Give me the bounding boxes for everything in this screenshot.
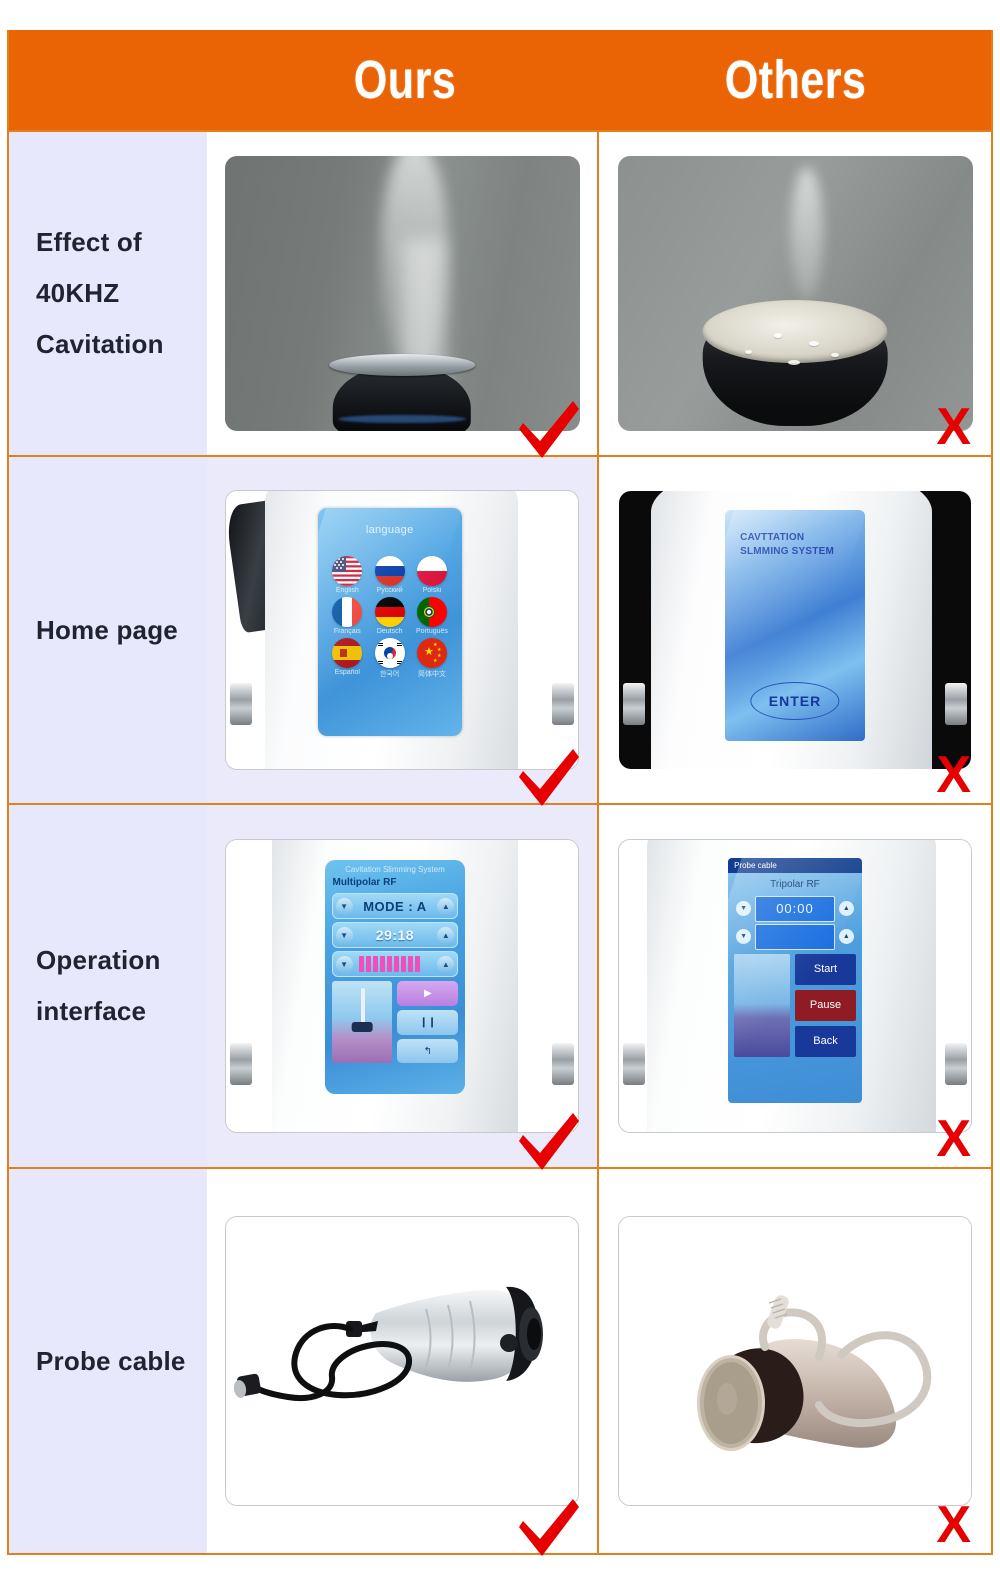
- operation-lower-panel: Start Pause Back: [734, 954, 856, 1057]
- row-label-text: Probe cable: [36, 1336, 186, 1387]
- header-cell-ours: Ours: [209, 30, 601, 130]
- comparison-table: Ours Others Effect of 40KHZ Cavitation: [7, 30, 993, 1555]
- cell-others-probe-cable: X: [599, 1169, 991, 1553]
- probe-head-illustration: [352, 1022, 373, 1032]
- language-option-polish[interactable]: Polski: [411, 556, 453, 594]
- connector-port-left: [230, 1043, 252, 1085]
- language-option-german[interactable]: Deutsch: [368, 597, 410, 635]
- flag-ru-icon: [375, 556, 405, 586]
- home-screen[interactable]: CAVTTATION SLMMING SYSTEM ENTER: [725, 510, 866, 741]
- intensity-bar: [415, 956, 420, 972]
- photo-others-probe: [618, 1216, 972, 1506]
- device-front-others-operation: Probe cable Tripolar RF ▼ 00:00 ▲ ▼ ▲: [619, 840, 971, 1132]
- verdict-cross-icon: X: [936, 401, 971, 453]
- verdict-cross-icon: X: [936, 1499, 971, 1551]
- header-label-spacer: [9, 30, 209, 130]
- cell-others-home-page: CAVTTATION SLMMING SYSTEM ENTER X: [599, 457, 991, 803]
- timer-stepper[interactable]: ▼ 29:18 ▲: [332, 922, 459, 948]
- intensity-bar: [373, 956, 378, 972]
- connector-port-right: [945, 1043, 967, 1085]
- intensity-bar: [366, 956, 371, 972]
- intensity-bar: [408, 956, 413, 972]
- verdict-cross-icon: X: [936, 749, 971, 801]
- language-option-korean[interactable]: 한국어: [368, 638, 410, 679]
- row-label-line: Effect of: [36, 217, 164, 268]
- language-screen-title: language: [318, 524, 462, 536]
- row-label-cell-cavitation: Effect of 40KHZ Cavitation: [9, 132, 207, 455]
- language-option-russian[interactable]: Русский: [368, 556, 410, 594]
- language-label: 한국어: [380, 669, 399, 679]
- intensity-stepper[interactable]: ▼ ▲: [332, 951, 459, 977]
- flag-es-icon: [332, 638, 362, 668]
- intensity-bar: [359, 956, 364, 972]
- connector-port-left: [230, 683, 252, 725]
- rf-mode-title: Tripolar RF: [728, 873, 862, 893]
- chevron-up-icon[interactable]: ▲: [839, 929, 854, 944]
- photo-others-operation: Probe cable Tripolar RF ▼ 00:00 ▲ ▼ ▲: [618, 839, 972, 1133]
- device-front-ours-operation: Cavitation Slimming System Multipolar RF…: [226, 840, 578, 1132]
- header-cell-others: Others: [601, 30, 991, 130]
- treatment-illustration: [332, 981, 393, 1063]
- row-label-line: Operation: [36, 935, 161, 986]
- flag-fr-icon: [332, 597, 362, 627]
- play-button[interactable]: ▶: [397, 981, 458, 1006]
- language-screen[interactable]: language English: [318, 508, 462, 736]
- verdict-check-icon: [513, 399, 583, 461]
- table-row: Home page language: [9, 455, 991, 803]
- flag-pl-icon: [417, 556, 447, 586]
- operation-lower-panel: ▶ ❙❙ ↰: [332, 981, 459, 1063]
- flag-kr-icon: [375, 638, 405, 668]
- probe-disc-dark: [703, 305, 888, 426]
- language-label: Polski: [423, 587, 442, 594]
- language-label: Français: [334, 628, 361, 635]
- intensity-bar: [401, 956, 406, 972]
- operation-screen[interactable]: Probe cable Tripolar RF ▼ 00:00 ▲ ▼ ▲: [728, 858, 862, 1103]
- language-option-english[interactable]: English: [326, 556, 368, 594]
- row-label-line: Probe cable: [36, 1336, 186, 1387]
- intensity-bar: [394, 956, 399, 972]
- photo-ours-home-page: language English: [225, 490, 579, 770]
- level-stepper[interactable]: ▼ ▲: [736, 925, 854, 949]
- treatment-illustration: [734, 954, 790, 1057]
- intensity-bar: [387, 956, 392, 972]
- cell-ours-cavitation: [207, 132, 599, 455]
- header-ours-label: Ours: [354, 49, 456, 111]
- row-label-cell-home-page: Home page: [9, 457, 207, 803]
- vapor-wisp: [791, 167, 823, 299]
- probe-others-illustration: [619, 1217, 971, 1505]
- language-option-spanish[interactable]: Español: [326, 638, 368, 679]
- row-label-cell-probe-cable: Probe cable: [9, 1169, 207, 1553]
- language-label: Deutsch: [377, 628, 403, 635]
- connector-port-left: [623, 1043, 645, 1085]
- operation-screen-header: Cavitation Slimming System: [328, 863, 463, 874]
- connector-port-right: [945, 683, 967, 725]
- photo-others-home-page: CAVTTATION SLMMING SYSTEM ENTER: [619, 491, 971, 769]
- water-droplet: [809, 341, 819, 346]
- pause-button[interactable]: ❙❙: [397, 1010, 458, 1035]
- intensity-bars: [353, 956, 438, 972]
- chevron-up-icon[interactable]: ▲: [437, 927, 454, 944]
- table-header-row: Ours Others: [9, 30, 991, 130]
- pause-button[interactable]: Pause: [795, 990, 856, 1021]
- probe-chrome-ring: [329, 354, 475, 376]
- language-option-chinese[interactable]: ★ ★ ★ ★ ★ 简体中文: [411, 638, 453, 679]
- language-label: Español: [335, 669, 360, 676]
- row-label-line: 40KHZ: [36, 268, 164, 319]
- language-option-portuguese[interactable]: Português: [411, 597, 453, 635]
- verdict-check-icon: [513, 1111, 583, 1173]
- language-label: Português: [416, 628, 448, 635]
- photo-ours-probe: [225, 1216, 579, 1506]
- mode-value: MODE : A: [353, 899, 438, 914]
- start-button[interactable]: Start: [795, 954, 856, 985]
- operation-controls: Start Pause Back: [795, 954, 856, 1057]
- chevron-up-icon[interactable]: ▲: [437, 898, 454, 915]
- operation-screen[interactable]: Cavitation Slimming System Multipolar RF…: [325, 860, 466, 1094]
- table-row: Probe cable: [9, 1167, 991, 1553]
- home-screen-title: CAVTTATION SLMMING SYSTEM: [740, 531, 853, 558]
- connector-port-right: [552, 683, 574, 725]
- verdict-check-icon: [513, 1497, 583, 1559]
- cell-ours-probe-cable: [207, 1169, 599, 1553]
- row-label-cell-operation-interface: Operation interface: [9, 805, 207, 1167]
- chevron-down-icon[interactable]: ▼: [336, 956, 353, 973]
- row-label-text: Effect of 40KHZ Cavitation: [36, 217, 164, 369]
- operation-screen-header: Probe cable: [728, 858, 862, 873]
- connector-port-right: [552, 1043, 574, 1085]
- water-droplet: [831, 353, 839, 357]
- cavitation-mist-scene-others: [618, 156, 973, 431]
- back-button[interactable]: ↰: [397, 1039, 458, 1064]
- svg-text:★: ★: [437, 653, 442, 659]
- cavitation-mist-scene-ours: [225, 156, 580, 431]
- mode-stepper[interactable]: ▼ MODE : A ▲: [332, 893, 459, 919]
- language-flag-grid: English Русский: [326, 556, 453, 682]
- table-row: Operation interface Cavitation Slimming …: [9, 803, 991, 1167]
- probe-illustration: [361, 988, 365, 1025]
- probe-ours-illustration: [226, 1217, 578, 1505]
- device-front-others: CAVTTATION SLMMING SYSTEM ENTER: [619, 491, 971, 769]
- table-row: Effect of 40KHZ Cavitation: [9, 130, 991, 455]
- chevron-down-icon[interactable]: ▼: [336, 927, 353, 944]
- flag-us-icon: [332, 556, 362, 586]
- language-label: Русский: [377, 587, 403, 594]
- back-button[interactable]: Back: [795, 1026, 856, 1057]
- level-value: [755, 924, 835, 950]
- comparison-page: Ours Others Effect of 40KHZ Cavitation: [0, 0, 1000, 1577]
- chevron-down-icon[interactable]: ▼: [736, 929, 751, 944]
- language-option-french[interactable]: Français: [326, 597, 368, 635]
- rf-mode-title: Multipolar RF: [328, 874, 463, 890]
- photo-ours-cavitation: [225, 156, 580, 431]
- timer-value: 00:00: [755, 896, 835, 922]
- water-droplet: [788, 360, 800, 365]
- device-front-ours: language English: [226, 491, 578, 769]
- photo-ours-operation: Cavitation Slimming System Multipolar RF…: [225, 839, 579, 1133]
- flag-pt-icon: [417, 597, 447, 627]
- cell-ours-home-page: language English: [207, 457, 599, 803]
- intensity-bar: [380, 956, 385, 972]
- photo-others-cavitation: [618, 156, 973, 431]
- cell-others-operation-interface: Probe cable Tripolar RF ▼ 00:00 ▲ ▼ ▲: [599, 805, 991, 1167]
- row-label-line: interface: [36, 986, 161, 1037]
- row-label-text: Home page: [36, 605, 178, 656]
- chevron-down-icon[interactable]: ▼: [336, 898, 353, 915]
- chevron-up-icon[interactable]: ▲: [839, 901, 854, 916]
- header-others-label: Others: [725, 49, 867, 111]
- chevron-down-icon[interactable]: ▼: [736, 901, 751, 916]
- language-label: 简体中文: [418, 669, 446, 679]
- verdict-check-icon: [513, 747, 583, 809]
- language-label: English: [336, 587, 359, 594]
- water-droplet: [774, 333, 782, 338]
- connector-port-left: [623, 683, 645, 725]
- verdict-cross-icon: X: [936, 1113, 971, 1165]
- enter-button[interactable]: ENTER: [750, 682, 839, 721]
- timer-value: 29:18: [353, 927, 438, 943]
- cell-others-cavitation: X: [599, 132, 991, 455]
- flag-cn-icon: ★ ★ ★ ★ ★: [417, 638, 447, 668]
- chevron-up-icon[interactable]: ▲: [437, 956, 454, 973]
- operation-controls: ▶ ❙❙ ↰: [397, 981, 458, 1063]
- row-label-text: Operation interface: [36, 935, 161, 1036]
- flag-de-icon: [375, 597, 405, 627]
- row-label-line: Cavitation: [36, 319, 164, 370]
- row-label-line: Home page: [36, 605, 178, 656]
- cell-ours-operation-interface: Cavitation Slimming System Multipolar RF…: [207, 805, 599, 1167]
- timer-stepper[interactable]: ▼ 00:00 ▲: [736, 897, 854, 921]
- svg-text:★: ★: [433, 658, 438, 664]
- probe-disc-face: [703, 300, 888, 363]
